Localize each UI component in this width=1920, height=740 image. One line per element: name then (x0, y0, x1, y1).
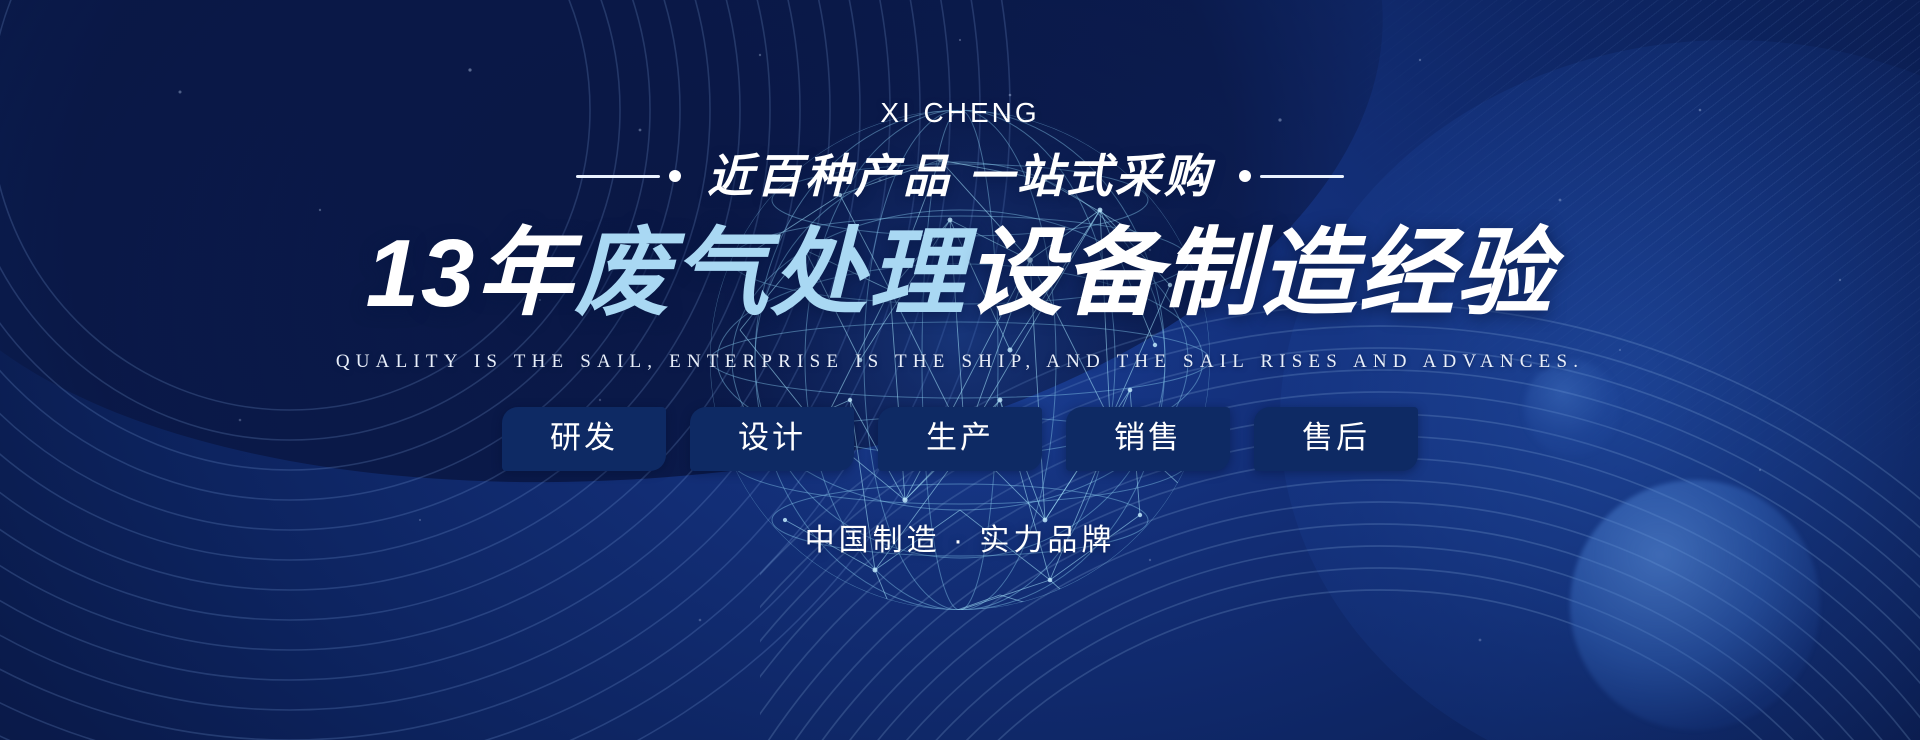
service-tag-design[interactable]: 设计 (690, 407, 854, 471)
decorative-line-right (1239, 170, 1344, 182)
headline-prefix: 13年 (366, 220, 575, 327)
banner-footer-slogan: 中国制造 · 实力品牌 (805, 515, 1116, 559)
banner-headline: 13年废气处理设备制造经验 (366, 219, 1555, 329)
decorative-line-left (576, 170, 681, 182)
service-tag-sales[interactable]: 销售 (1066, 407, 1230, 471)
service-tag-rnd[interactable]: 研发 (502, 407, 666, 471)
service-tag-list: 研发 设计 生产 销售 售后 (502, 407, 1418, 471)
service-tag-aftersales[interactable]: 售后 (1254, 407, 1418, 471)
subtitle-row: 近百种产品 一站式采购 (576, 153, 1344, 199)
banner-content: XI CHENG 近百种产品 一站式采购 13年废气处理设备制造经验 QUALI… (0, 0, 1920, 740)
brand-name-en: XI CHENG (880, 99, 1039, 127)
service-tag-production[interactable]: 生产 (878, 407, 1042, 471)
headline-accent: 废气处理 (574, 220, 966, 327)
hero-banner: XI CHENG 近百种产品 一站式采购 13年废气处理设备制造经验 QUALI… (0, 0, 1920, 740)
banner-tagline-en: QUALITY IS THE SAIL, ENTERPRISE IS THE S… (336, 351, 1584, 373)
banner-subtitle: 近百种产品 一站式采购 (707, 153, 1213, 199)
headline-suffix: 设备制造经验 (966, 220, 1554, 327)
